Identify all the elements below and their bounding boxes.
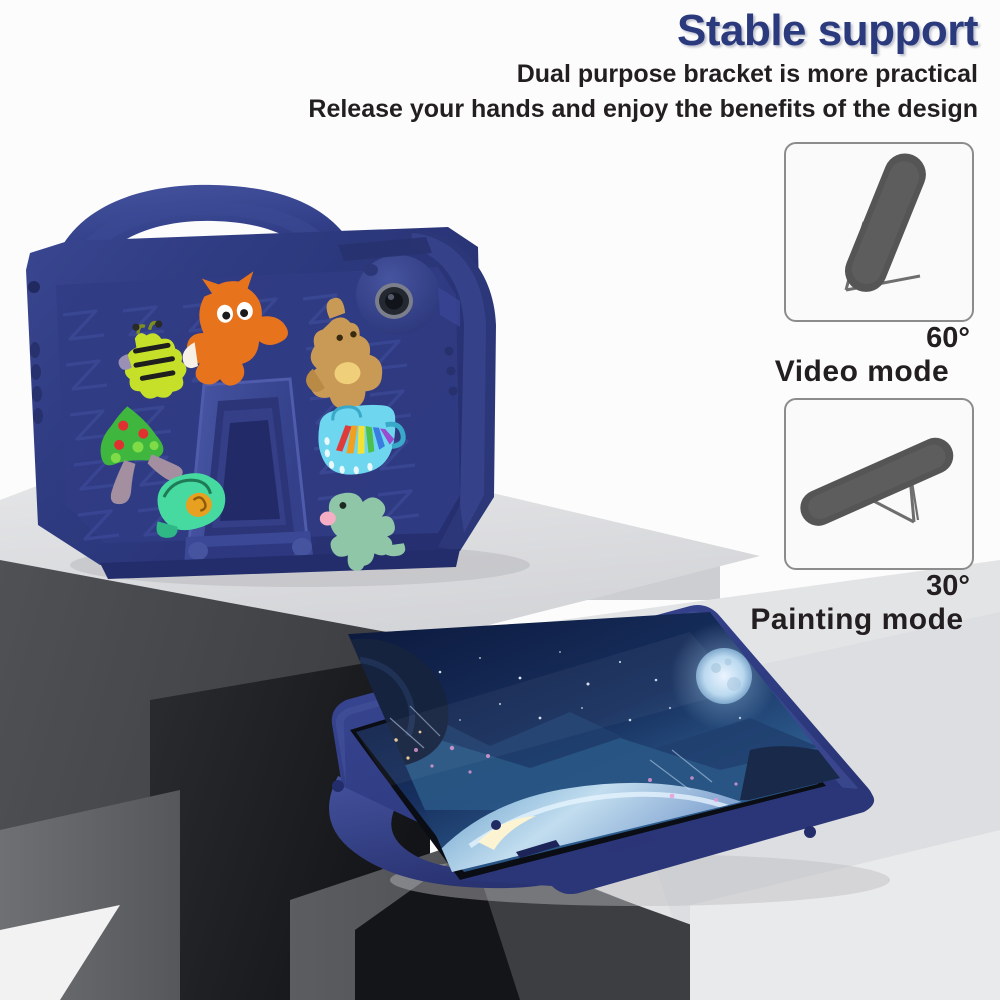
mode-angle-video: 60°	[810, 322, 970, 355]
subtitle-line-1: Dual purpose bracket is more practical	[517, 60, 978, 89]
mode-card-painting	[784, 398, 974, 570]
tablet-case-back-view	[8, 175, 528, 585]
mode-label-video: Video mode	[730, 355, 994, 389]
mode-angle-painting: 30°	[810, 570, 970, 603]
camera-cutout	[356, 255, 440, 335]
built-in-kickstand[interactable]	[184, 379, 314, 567]
product-marketing-image: Stable support Dual purpose bracket is m…	[0, 0, 1000, 1000]
mode-card-video	[784, 142, 974, 322]
tablet-stand-shallow-icon	[786, 400, 968, 564]
page-title: Stable support	[677, 6, 978, 56]
tablet-case-front-view	[320, 600, 880, 930]
mode-label-painting: Painting mode	[720, 603, 994, 637]
subtitle-line-2: Release your hands and enjoy the benefit…	[308, 95, 978, 124]
tablet-stand-steep-icon	[786, 144, 968, 316]
